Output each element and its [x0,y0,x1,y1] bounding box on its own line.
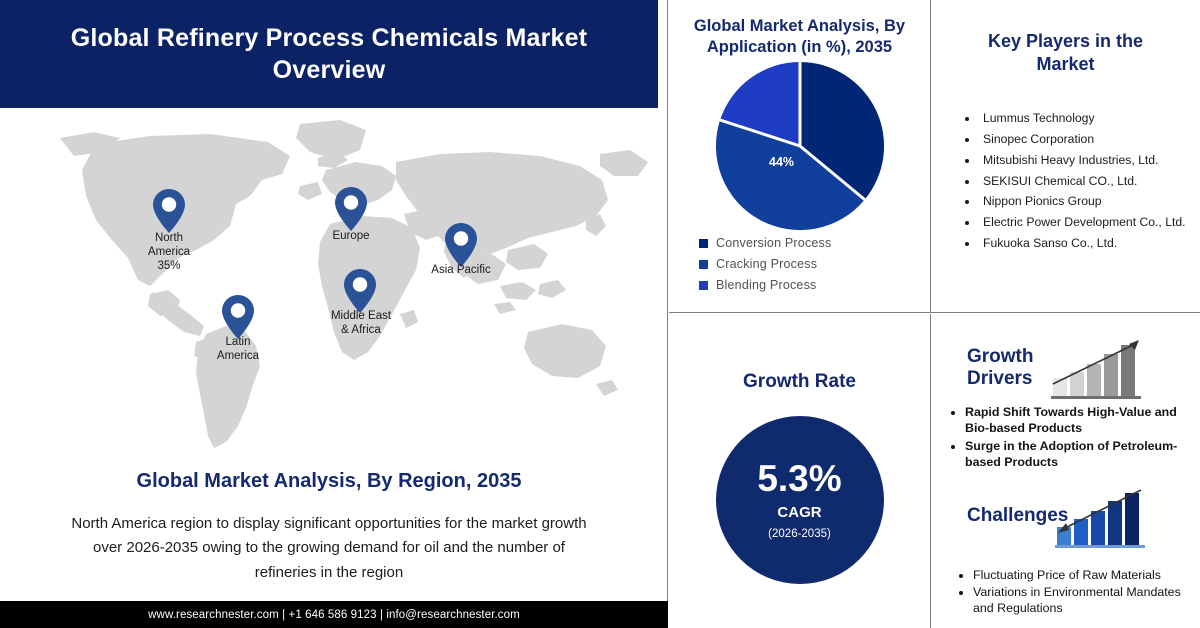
cagr-value: 5.3% [757,460,841,497]
infographic-canvas: Global Refinery Process Chemicals Market… [0,0,1200,628]
legend-item-conversion-process: Conversion Process [699,236,930,250]
legend-swatch-icon [699,260,708,269]
list-item: Mitsubishi Heavy Industries, Ltd. [979,152,1200,170]
list-item: SEKISUI Chemical CO., Ltd. [979,173,1200,191]
list-item: Rapid Shift Towards High-Value and Bio-b… [965,404,1200,437]
page-title: Global Refinery Process Chemicals Market… [0,22,658,87]
drivers-challenges-panel: Growth Drivers Rapid Shift Towards High-… [931,314,1200,628]
key-players-title: Key Players in the Market [931,30,1200,76]
map-pin-asia-pacific[interactable] [444,222,478,268]
map-pin-middle-east-africa[interactable] [343,268,377,314]
growth-drivers-block: Growth Drivers Rapid Shift Towards High-… [931,336,1200,471]
location-pin-icon [334,186,368,232]
footer-bar: www.researchnester.com | +1 646 586 9123… [0,601,668,628]
region-analysis-description: North America region to display signific… [64,512,594,585]
location-pin-icon [152,188,186,234]
map-pin-latin-america[interactable] [221,294,255,340]
legend-label: Conversion Process [716,236,831,250]
challenges-header: Challenges [931,485,1200,549]
map-label-middle-east-africa: Middle East& Africa [306,310,416,338]
key-players-panel: Key Players in the Market Lummus Technol… [931,0,1200,313]
legend-item-blending-process: Blending Process [699,278,930,292]
map-pin-europe[interactable] [334,186,368,232]
map-label-latin-america: LatinAmerica [193,336,283,364]
application-analysis-panel: Global Market Analysis, By Application (… [669,0,931,313]
pie-chart-icon [700,60,900,232]
key-players-list: Lummus Technology Sinopec Corporation Mi… [931,110,1200,253]
legend-swatch-icon [699,239,708,248]
list-item: Fluctuating Price of Raw Materials [973,567,1200,583]
legend-label: Cracking Process [716,257,817,271]
map-pin-north-america[interactable] [152,188,186,234]
challenges-list: Fluctuating Price of Raw Materials Varia… [931,567,1200,617]
legend-swatch-icon [699,281,708,290]
growth-rate-panel: Growth Rate 5.3% CAGR (2026-2035) [669,314,931,628]
growth-rate-title: Growth Rate [669,370,930,394]
location-pin-icon [221,294,255,340]
cagr-period: (2026-2035) [768,528,831,540]
map-label-asia-pacific: Asia Pacific [406,264,516,278]
list-item: Surge in the Adoption of Petroleum-based… [965,438,1200,471]
region-analysis-title: Global Market Analysis, By Region, 2035 [0,470,658,493]
list-item: Nippon Pionics Group [979,193,1200,211]
world-map-icon [0,108,658,468]
growth-drivers-title: Growth Drivers [931,346,1043,391]
cagr-metric-label: CAGR [777,504,821,521]
location-pin-icon [343,268,377,314]
challenges-title: Challenges [931,505,1051,527]
location-pin-icon [444,222,478,268]
left-panel: Global Refinery Process Chemicals Market… [0,0,668,628]
header-bar: Global Refinery Process Chemicals Market… [0,0,658,108]
map-label-europe: Europe [306,230,396,244]
growth-rate-circle: 5.3% CAGR (2026-2035) [716,416,884,584]
list-item: Variations in Environmental Mandates and… [973,584,1200,617]
world-map-region: NorthAmerica35% Europe Asia Paci [0,108,658,468]
growth-drivers-header: Growth Drivers [931,336,1200,400]
pie-slice-label-cracking: 44% [769,155,794,169]
growth-drivers-list: Rapid Shift Towards High-Value and Bio-b… [931,404,1200,471]
list-item: Fukuoka Sanso Co., Ltd. [979,235,1200,253]
footer-contact-text: www.researchnester.com | +1 646 586 9123… [148,609,520,621]
pie-legend: Conversion Process Cracking Process Blen… [669,236,930,292]
legend-item-cracking-process: Cracking Process [699,257,930,271]
map-label-north-america: NorthAmerica35% [124,232,214,273]
ascending-bar-chart-blue-icon [1053,485,1149,549]
challenges-block: Challenges Fluctuating Price of Raw Mate… [931,485,1200,617]
list-item: Sinopec Corporation [979,131,1200,149]
list-item: Lummus Technology [979,110,1200,128]
application-panel-title: Global Market Analysis, By Application (… [669,16,930,58]
list-item: Electric Power Development Co., Ltd. [979,214,1200,232]
ascending-bar-chart-gray-icon [1049,336,1145,400]
application-pie-chart: 44% [669,60,930,230]
legend-label: Blending Process [716,278,816,292]
